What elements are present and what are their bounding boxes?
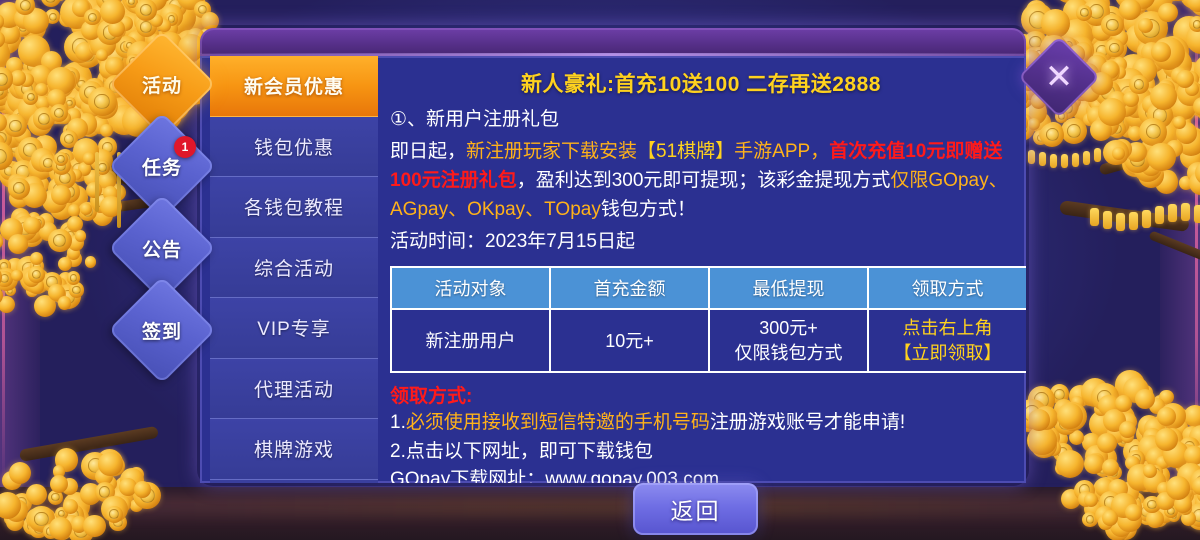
lantern bbox=[1061, 154, 1068, 168]
lantern bbox=[1039, 152, 1046, 166]
howto-step-1: 1.必须使用接收到短信特邀的手机号码注册游戏账号才能申请! bbox=[390, 408, 1012, 437]
blossom bbox=[96, 49, 108, 61]
lantern bbox=[1168, 204, 1177, 222]
table-body: 新注册用户 10元+ 300元+ 仅限钱包方式 点击右上角 【立即领取】 bbox=[391, 309, 1026, 372]
blossom bbox=[1155, 428, 1178, 451]
blossom bbox=[1151, 42, 1171, 62]
coin bbox=[1193, 20, 1200, 29]
promo-text-4: ，盈利达到300元即可提现；该彩金提现方式 bbox=[517, 170, 891, 191]
ribbon bbox=[95, 152, 99, 212]
left-diamond-nav: 活动任务1公告签到 bbox=[112, 46, 212, 446]
event-period: 活动时间：2023年7月15日起 bbox=[390, 228, 1012, 257]
lantern bbox=[1155, 206, 1164, 224]
coin bbox=[51, 493, 59, 501]
sidebar-tab-2[interactable]: 钱包优惠 bbox=[210, 117, 378, 178]
nav-diamond-4[interactable]: 签到 bbox=[108, 276, 215, 383]
cell-withdraw-line2: 仅限钱包方式 bbox=[712, 341, 865, 365]
blossom bbox=[1147, 143, 1176, 172]
lantern bbox=[1090, 208, 1099, 226]
table-header-row: 活动对象 首充金额 最低提现 领取方式 bbox=[391, 267, 1026, 309]
blossom bbox=[1166, 476, 1190, 500]
page-title: 新人豪礼:首充10送100 二存再送2888 bbox=[390, 62, 1012, 106]
cell-target: 新注册用户 bbox=[391, 309, 550, 372]
sidebar-tab-6[interactable]: 代理活动 bbox=[210, 359, 378, 420]
blossom bbox=[1028, 118, 1040, 130]
cell-claim-line2: 【立即领取】 bbox=[871, 341, 1024, 365]
step1-number: 1. bbox=[390, 412, 406, 433]
sidebar-tab-1[interactable]: 新会员优惠 bbox=[210, 56, 378, 117]
blossom bbox=[1157, 407, 1176, 426]
cell-claim-line1: 点击右上角 bbox=[871, 316, 1024, 340]
coin bbox=[72, 286, 80, 294]
sidebar-tab-3[interactable]: 各钱包教程 bbox=[210, 177, 378, 238]
lantern bbox=[1142, 210, 1151, 228]
blossom bbox=[1150, 83, 1177, 110]
close-button[interactable]: ✕ bbox=[1018, 36, 1100, 118]
blossom bbox=[1184, 405, 1200, 427]
blossom bbox=[1057, 403, 1083, 429]
section-heading: ①、新用户注册礼包 bbox=[390, 106, 1012, 135]
lantern bbox=[1072, 153, 1079, 167]
col-header-amount: 首充金额 bbox=[550, 267, 709, 309]
blossom bbox=[1125, 504, 1142, 521]
howto-heading: 领取方式: bbox=[390, 381, 1012, 408]
sidebar-tab-list: 新会员优惠钱包优惠各钱包教程综合活动VIP专享代理活动棋牌游戏 bbox=[210, 56, 378, 483]
cell-withdraw: 300元+ 仅限钱包方式 bbox=[709, 309, 868, 372]
coin bbox=[1067, 124, 1081, 138]
coin bbox=[140, 4, 152, 16]
lantern bbox=[1129, 212, 1138, 230]
blossom bbox=[1098, 98, 1126, 126]
blossom bbox=[134, 481, 151, 498]
coin bbox=[57, 155, 64, 162]
activity-panel: 新会员优惠钱包优惠各钱包教程综合活动VIP专享代理活动棋牌游戏 新人豪礼:首充1… bbox=[200, 28, 1026, 483]
coin bbox=[64, 134, 74, 144]
promo-paragraph: 即日起，新注册玩家下载安装【51棋牌】手游APP，首次充值10元即赠送100元注… bbox=[390, 138, 1012, 225]
coin bbox=[9, 120, 21, 132]
lantern bbox=[1050, 154, 1057, 168]
promo-text-1: 即日起， bbox=[390, 141, 466, 162]
table-row: 新注册用户 10元+ 300元+ 仅限钱包方式 点击右上角 【立即领取】 bbox=[391, 309, 1026, 372]
col-header-claim: 领取方式 bbox=[868, 267, 1026, 309]
cell-claim: 点击右上角 【立即领取】 bbox=[868, 309, 1026, 372]
promo-text-3: 手游APP， bbox=[734, 141, 829, 162]
cell-amount: 10元+ bbox=[550, 309, 709, 372]
coin bbox=[1086, 515, 1095, 524]
coin bbox=[1109, 43, 1119, 53]
blossom bbox=[1135, 389, 1155, 409]
blossom bbox=[30, 252, 43, 265]
lantern bbox=[1028, 150, 1035, 164]
panel-title-bar bbox=[200, 28, 1026, 56]
nav-diamond-label: 公告 bbox=[124, 210, 200, 286]
step1-highlight: 必须使用接收到短信特邀的手机号码 bbox=[406, 412, 710, 433]
blossom bbox=[1028, 409, 1050, 431]
nav-diamond-label: 活动 bbox=[124, 46, 200, 122]
promo-text-5: 钱包方式！ bbox=[601, 199, 696, 220]
blossom bbox=[1041, 9, 1070, 38]
sidebar-tab-4[interactable]: 综合活动 bbox=[210, 238, 378, 299]
activity-table: 活动对象 首充金额 最低提现 领取方式 新注册用户 10元+ 300元+ 仅限钱… bbox=[390, 266, 1026, 373]
howto-step-3: GOpay下载网址：www.gopay.003.com bbox=[390, 467, 719, 483]
coin bbox=[20, 0, 31, 11]
table-head: 活动对象 首充金额 最低提现 领取方式 bbox=[391, 267, 1026, 309]
blossom bbox=[98, 452, 122, 476]
lantern bbox=[1103, 211, 1112, 229]
lantern bbox=[1194, 205, 1200, 223]
coin bbox=[88, 13, 97, 22]
blossom bbox=[100, 0, 125, 24]
nav-badge: 1 bbox=[174, 136, 196, 158]
sidebar-tab-7[interactable]: 棋牌游戏 bbox=[210, 419, 378, 480]
blossom bbox=[1084, 454, 1104, 474]
blossom bbox=[49, 517, 72, 540]
coin bbox=[98, 163, 106, 171]
lantern bbox=[1083, 151, 1090, 165]
nav-diamond-label: 签到 bbox=[124, 292, 200, 368]
blossom bbox=[100, 124, 113, 137]
coin bbox=[1106, 19, 1118, 31]
promo-text-2: 新注册玩家下载安装 bbox=[466, 141, 637, 162]
sidebar-tab-5[interactable]: VIP专享 bbox=[210, 298, 378, 359]
activity-content: 新人豪礼:首充10送100 二存再送2888 ①、新用户注册礼包 即日起，新注册… bbox=[378, 56, 1026, 483]
lantern bbox=[1116, 213, 1125, 231]
coin bbox=[1146, 124, 1161, 139]
back-button[interactable]: 返回 bbox=[633, 483, 758, 535]
col-header-withdraw: 最低提现 bbox=[709, 267, 868, 309]
coin bbox=[32, 270, 41, 279]
coin bbox=[1054, 389, 1065, 400]
howto-step-3-clipped: GOpay下载网址：www.gopay.003.com bbox=[390, 467, 1012, 483]
lantern bbox=[1181, 203, 1190, 221]
col-header-target: 活动对象 bbox=[391, 267, 550, 309]
close-icon: ✕ bbox=[1030, 48, 1088, 106]
blossom bbox=[1119, 0, 1141, 20]
blossom bbox=[1176, 70, 1194, 88]
blossom bbox=[75, 230, 86, 241]
blossom bbox=[1112, 147, 1125, 160]
howto-step-2: 2.点击以下网址，即可下载钱包 bbox=[390, 437, 1012, 466]
blossom bbox=[50, 475, 68, 493]
cell-withdraw-line1: 300元+ bbox=[712, 316, 865, 340]
blossom bbox=[68, 204, 80, 216]
coin bbox=[1134, 79, 1145, 90]
coin bbox=[1080, 8, 1089, 17]
lantern bbox=[1094, 148, 1101, 162]
coin bbox=[70, 274, 78, 282]
coin bbox=[49, 13, 57, 21]
blossom bbox=[1143, 464, 1157, 478]
promo-brand: 【51棋牌】 bbox=[637, 141, 734, 162]
blossom bbox=[23, 217, 40, 234]
step1-rest: 注册游戏账号才能申请! bbox=[710, 412, 905, 433]
blossom bbox=[26, 484, 47, 505]
floor-background bbox=[0, 487, 1200, 540]
